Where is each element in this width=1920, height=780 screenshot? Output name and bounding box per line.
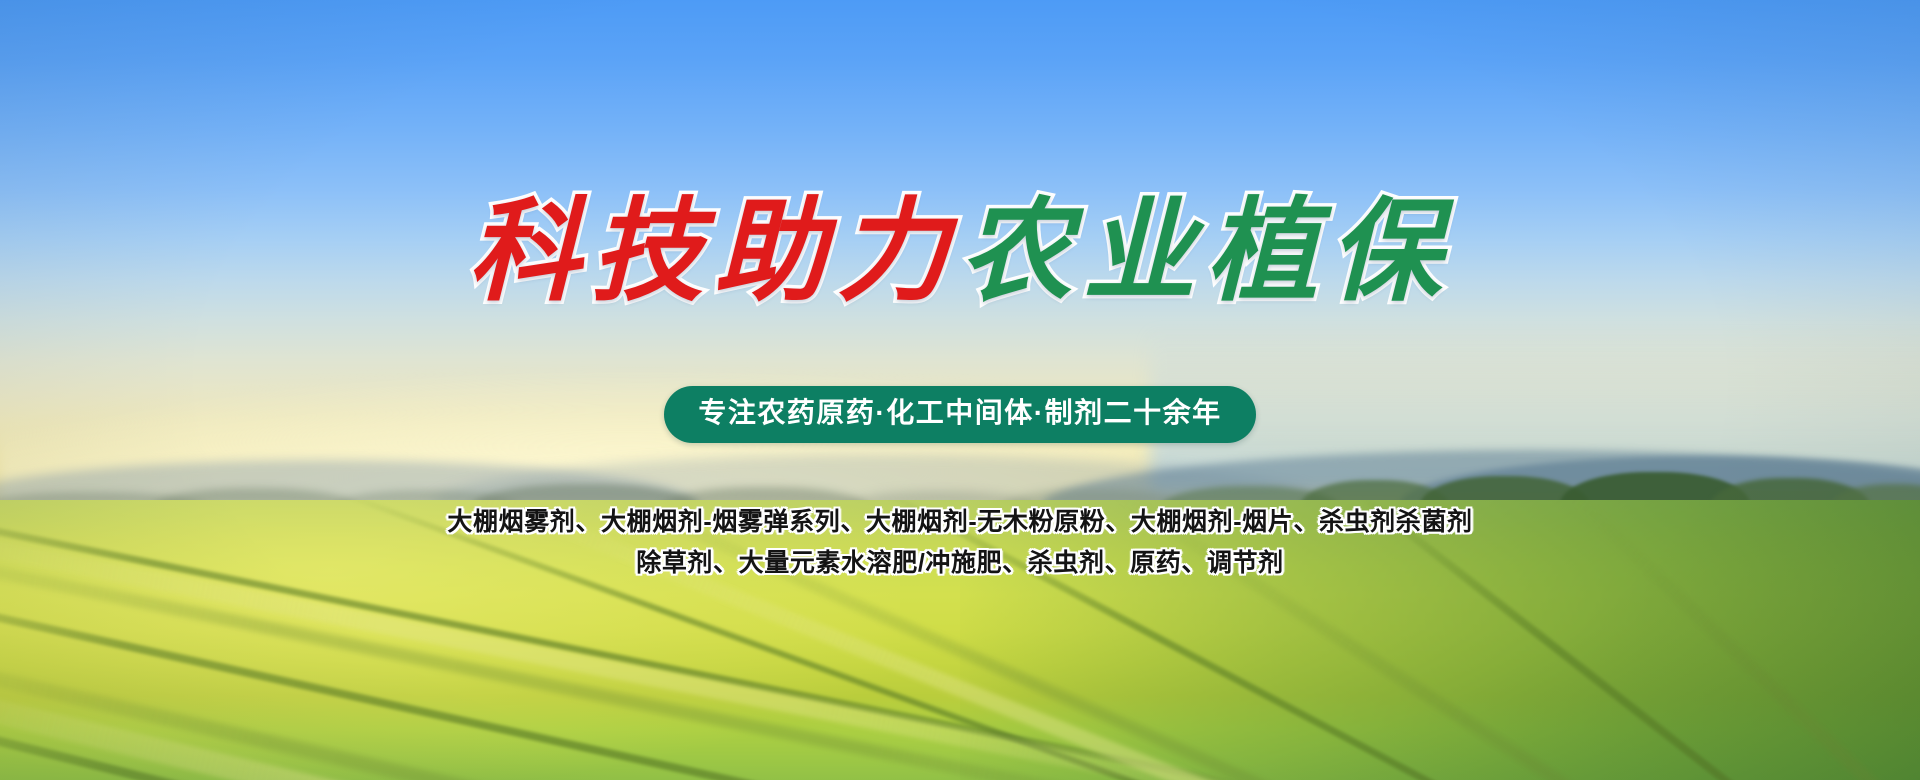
subtitle-badge: 专注农药原药·化工中间体·制剂二十余年: [664, 386, 1255, 443]
headline-red-segment: 科技助力: [468, 196, 960, 308]
product-category-list: 大棚烟雾剂、大棚烟剂-烟雾弹系列、大棚烟剂-无木粉原粉、大棚烟剂-烟片、杀虫剂杀…: [0, 502, 1920, 583]
product-line-2: 除草剂、大量元素水溶肥/冲施肥、杀虫剂、原药、调节剂: [0, 543, 1920, 584]
banner-headline: 科技助力农业植保: [0, 196, 1920, 308]
hero-banner: 科技助力农业植保 专注农药原药·化工中间体·制剂二十余年 大棚烟雾剂、大棚烟剂-…: [0, 0, 1920, 780]
product-line-1: 大棚烟雾剂、大棚烟剂-烟雾弹系列、大棚烟剂-无木粉原粉、大棚烟剂-烟片、杀虫剂杀…: [0, 502, 1920, 543]
subtitle-badge-row: 专注农药原药·化工中间体·制剂二十余年: [0, 386, 1920, 443]
headline-green-segment: 农业植保: [960, 196, 1452, 308]
